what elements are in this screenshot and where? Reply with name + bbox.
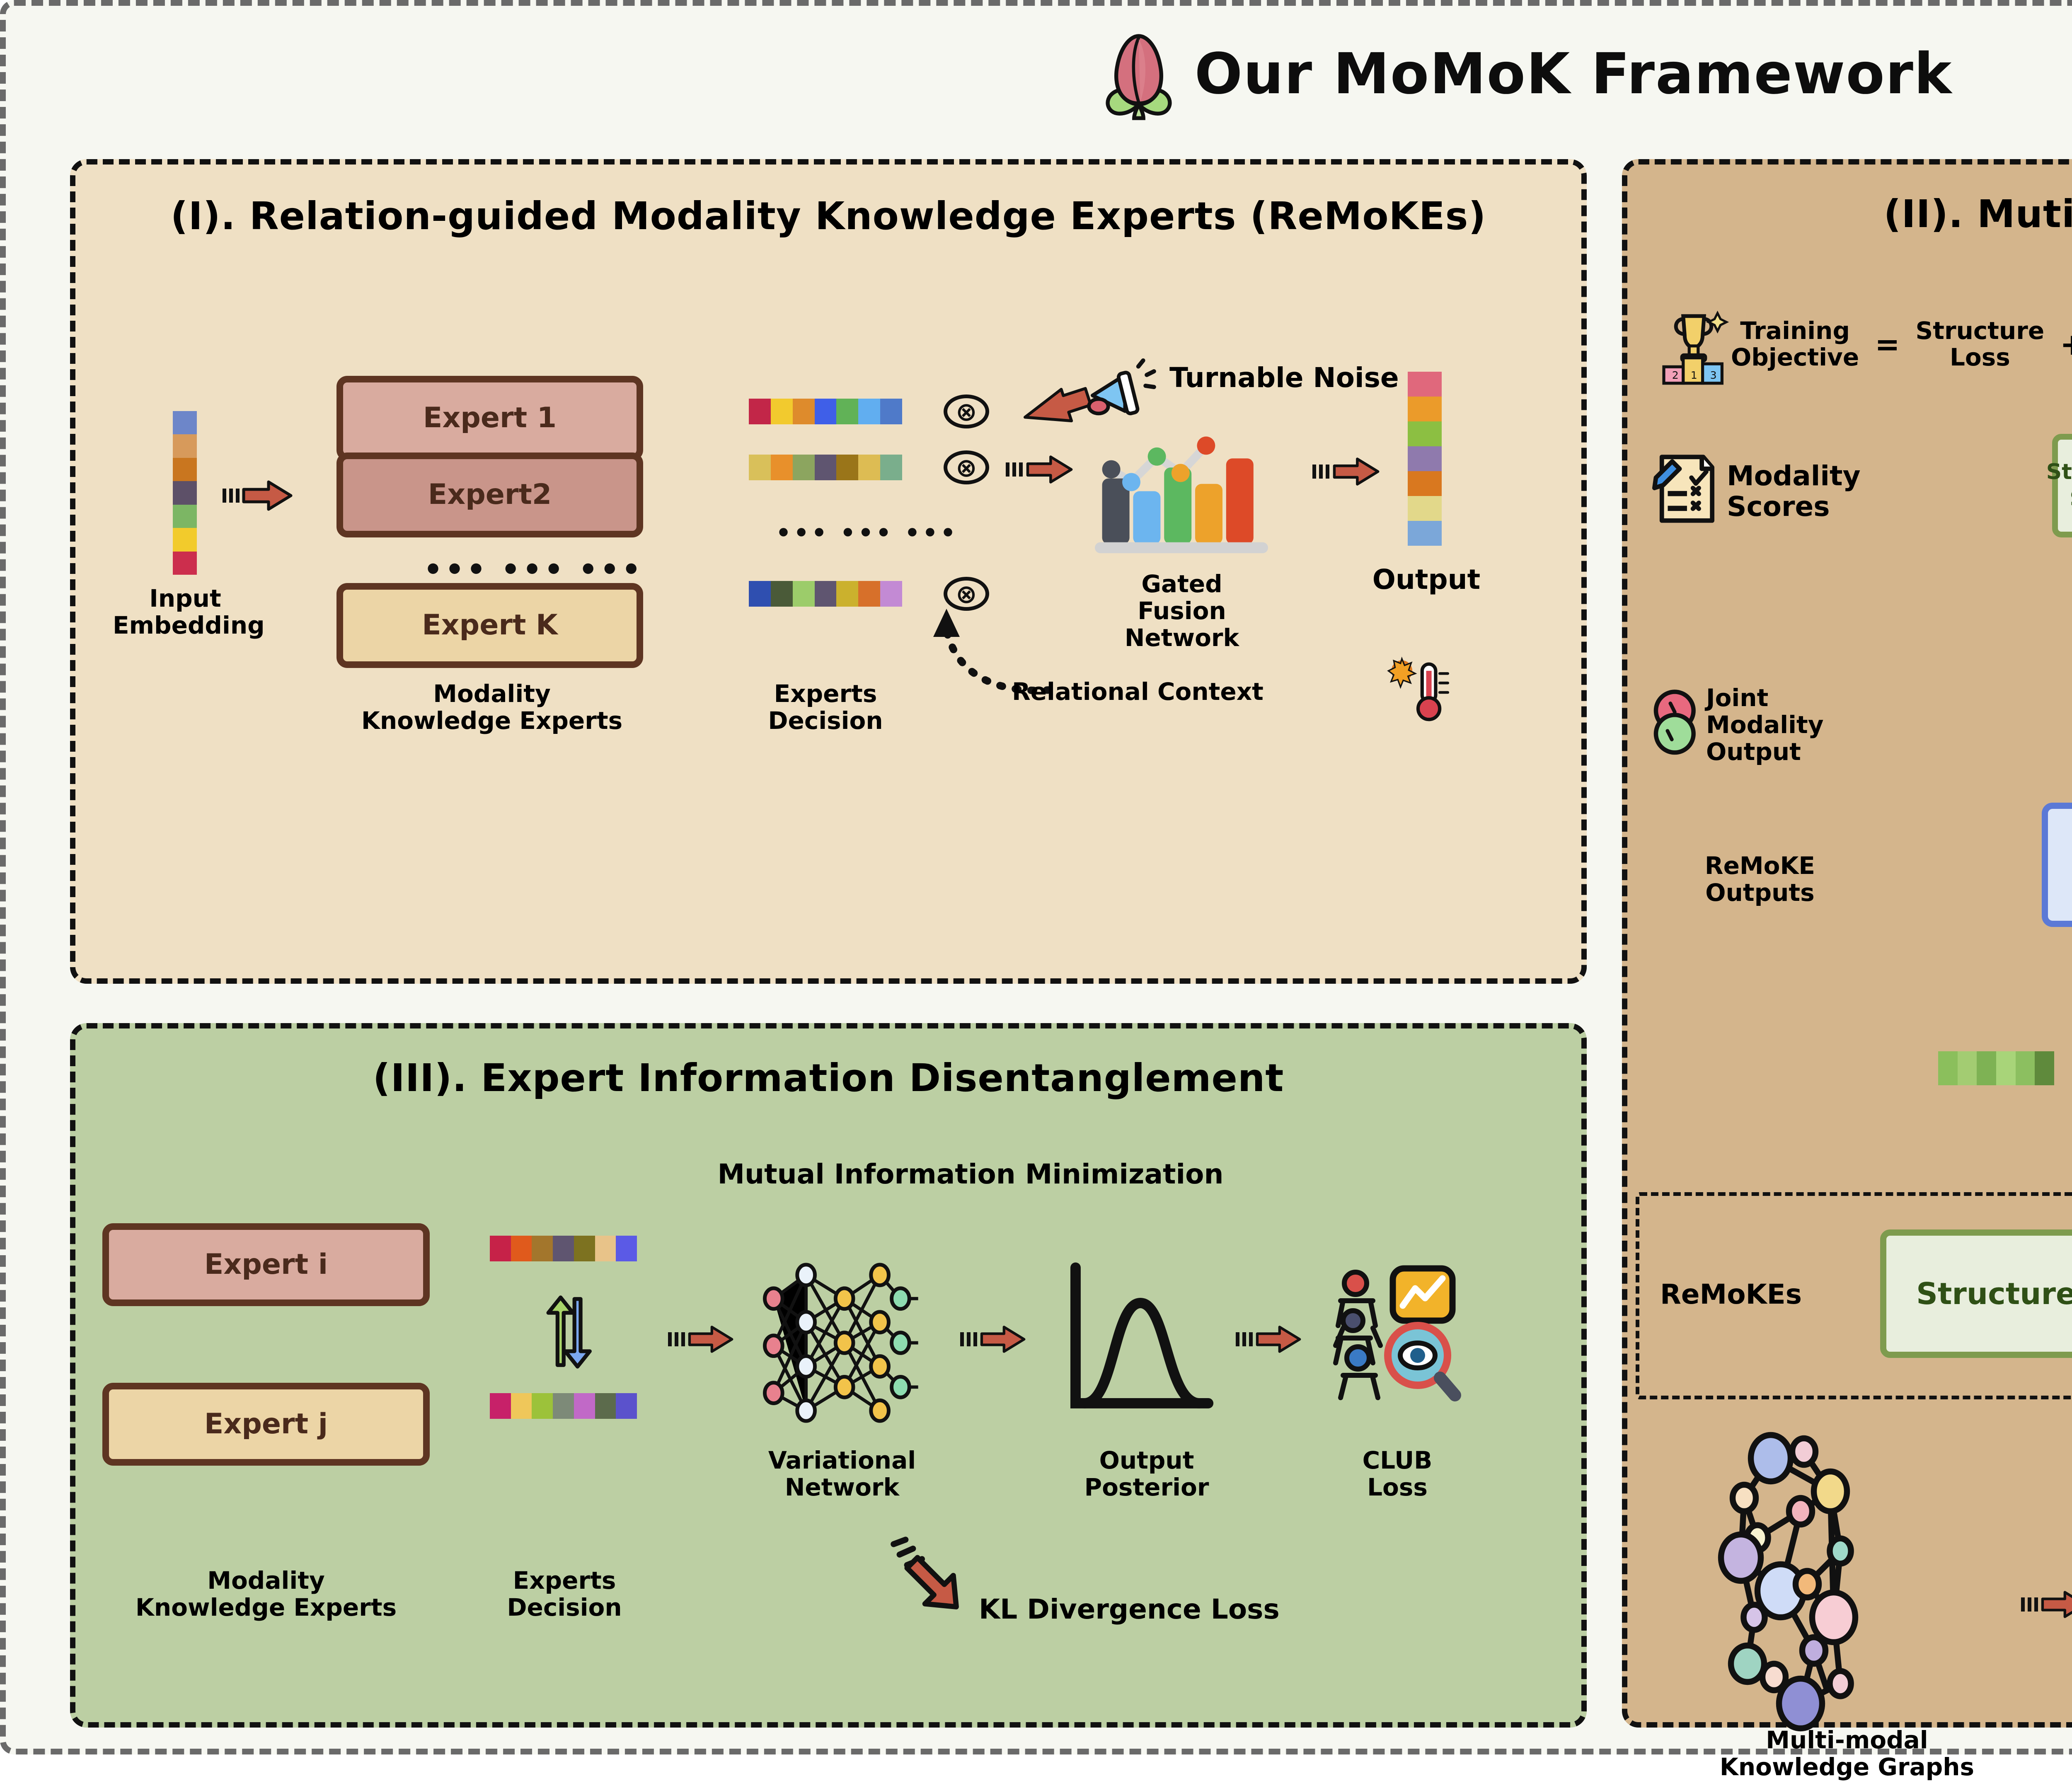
score-card-structure[interactable]: Structure Score bbox=[2052, 434, 2072, 537]
gated-fusion-network-label: Gated Fusion Network bbox=[1087, 571, 1277, 651]
kl-divergence-loss-label: KL Divergence Loss bbox=[979, 1594, 1476, 1625]
expert-box-1[interactable]: Expert 1 bbox=[336, 376, 643, 461]
panel-multimodal-joint-decision: (II). Muti-modal Joint Decision (MuJoD) … bbox=[1622, 159, 2072, 1728]
strip-cell bbox=[595, 1393, 616, 1419]
remoke-card-structure[interactable]: Structure bbox=[1880, 1229, 2072, 1358]
strip-cell bbox=[771, 399, 793, 424]
strip-cell bbox=[2035, 1051, 2054, 1085]
panel2-title: (II). Muti-modal Joint Decision (MuJoD) bbox=[1627, 194, 2072, 235]
strip-cell bbox=[858, 581, 880, 607]
adaptive-fusion-block[interactable]: Adaptive Fusion bbox=[2042, 803, 2072, 927]
input-embedding-strip bbox=[173, 411, 197, 575]
strip-cell bbox=[880, 581, 902, 607]
framework-poster: Our MoMoK Framework (I). Relation-guided… bbox=[0, 0, 2072, 1754]
modality-knowledge-experts-label: Modality Knowledge Experts bbox=[332, 680, 651, 734]
swap-vertical-icon bbox=[544, 1296, 591, 1368]
strip-cell bbox=[616, 1236, 637, 1261]
strip-cell bbox=[1977, 1051, 1996, 1085]
expert-box-j-label: Expert j bbox=[204, 1409, 328, 1440]
arrow-input-to-experts bbox=[223, 479, 293, 512]
strip-cell bbox=[532, 1236, 553, 1261]
turnable-noise-label: Turnable Noise bbox=[1169, 363, 1426, 393]
strip-cell bbox=[1958, 1051, 1977, 1085]
strip-cell bbox=[771, 455, 793, 480]
poster-header: Our MoMoK Framework bbox=[6, 18, 2072, 130]
strip-cell bbox=[553, 1236, 574, 1261]
venn-circles-icon bbox=[1650, 689, 1712, 757]
output-label: Output bbox=[1352, 564, 1501, 595]
experts-decision-label: Experts Decision bbox=[738, 680, 913, 734]
remoke-card-structure-label: Structure bbox=[1916, 1276, 2072, 1311]
strip-cell bbox=[1938, 1051, 1958, 1085]
strip-cell bbox=[836, 455, 858, 480]
strip-cell bbox=[793, 581, 815, 607]
strip-cell bbox=[595, 1236, 616, 1261]
relational-context-label: Relational Context bbox=[1012, 678, 1385, 705]
objective-term-structure: Structure Loss bbox=[1916, 318, 2045, 371]
objective-equals: = bbox=[1875, 327, 1900, 362]
expert-box-j[interactable]: Expert j bbox=[102, 1383, 430, 1466]
peach-icon bbox=[1099, 30, 1178, 119]
strip-cell bbox=[574, 1393, 595, 1419]
strip-cell bbox=[771, 581, 793, 607]
strip-cell bbox=[574, 1236, 595, 1261]
expert-box-2-label: Expert2 bbox=[428, 479, 552, 511]
output-posterior-label: Output Posterior bbox=[1060, 1447, 1234, 1501]
arrow-to-variational-network bbox=[668, 1325, 734, 1354]
strip-cell bbox=[1408, 397, 1442, 421]
strip-cell bbox=[532, 1393, 553, 1419]
arrow-to-output bbox=[1312, 457, 1380, 486]
strip-cell bbox=[173, 411, 197, 434]
strip-cell bbox=[880, 455, 902, 480]
kl-arrow-icon bbox=[888, 1538, 962, 1613]
arrow-kg-to-modalities bbox=[2021, 1590, 2072, 1619]
megaphone-icon bbox=[1087, 359, 1161, 426]
strip-cell bbox=[173, 458, 197, 481]
input-embedding-label: Input Embedding bbox=[113, 585, 258, 639]
strip-cell bbox=[1408, 372, 1442, 397]
arrow-noise-to-multiply bbox=[1020, 390, 1091, 432]
expert-box-i-label: Expert i bbox=[204, 1249, 328, 1280]
training-objective-row: Training Objective = Structure Loss + Vi… bbox=[1731, 318, 2072, 371]
strip-cell bbox=[858, 399, 880, 424]
neural-network-icon bbox=[751, 1254, 929, 1428]
panel3-title: (III). Expert Information Disentanglemen… bbox=[75, 1057, 1581, 1099]
expert-box-i[interactable]: Expert i bbox=[102, 1223, 430, 1306]
strip-cell bbox=[793, 455, 815, 480]
expert-box-1-label: Expert 1 bbox=[423, 403, 557, 434]
objective-plus-1: + bbox=[2060, 327, 2072, 362]
strip-cell bbox=[173, 434, 197, 457]
strip-cell bbox=[173, 552, 197, 575]
strip-cell bbox=[511, 1236, 532, 1261]
arrow-to-output-posterior bbox=[960, 1325, 1026, 1354]
arrow-to-club-loss bbox=[1236, 1325, 1302, 1354]
strip-cell bbox=[616, 1393, 637, 1419]
objective-lhs: Training Objective bbox=[1731, 318, 1859, 371]
strip-cell bbox=[1408, 521, 1442, 546]
svg-text:1: 1 bbox=[1691, 369, 1697, 381]
strip-cell bbox=[749, 399, 771, 424]
strip-cell bbox=[553, 1393, 574, 1419]
trophy-podium-icon: 2 1 3 bbox=[1661, 312, 1727, 386]
remoke-output-bar-structure bbox=[1938, 1051, 2054, 1085]
experts-decision-bar-1 bbox=[749, 399, 902, 424]
remokes-label: ReMoKEs bbox=[1640, 1279, 1822, 1310]
strip-cell bbox=[173, 505, 197, 528]
analytics-people-icon bbox=[1333, 1263, 1457, 1404]
strip-cell bbox=[1996, 1051, 2016, 1085]
strip-cell bbox=[749, 455, 771, 480]
strip-cell bbox=[490, 1236, 511, 1261]
remoke-outputs-label: ReMoKE Outputs bbox=[1644, 852, 1876, 906]
strip-cell bbox=[749, 581, 771, 607]
expert-box-k[interactable]: Expert K bbox=[336, 583, 643, 668]
svg-text:3: 3 bbox=[1710, 369, 1717, 381]
strip-cell bbox=[1408, 471, 1442, 496]
expert-box-2[interactable]: Expert2 bbox=[336, 453, 643, 537]
strip-cell bbox=[490, 1393, 511, 1419]
gaussian-curve-icon bbox=[1066, 1265, 1215, 1418]
bar-chart-icon bbox=[1095, 426, 1277, 562]
mutual-information-minimization-label: Mutual Information Minimization bbox=[647, 1159, 1294, 1190]
modality-scores-label: Modality Scores bbox=[1727, 461, 1905, 522]
strip-cell bbox=[815, 581, 837, 607]
strip-cell bbox=[858, 455, 880, 480]
expert-box-k-label: Expert K bbox=[422, 610, 558, 641]
experts-decision-bar-2 bbox=[749, 455, 902, 480]
panel-relation-guided-modality-knowledge-experts: (I). Relation-guided Modality Knowledge … bbox=[70, 159, 1587, 984]
strip-cell bbox=[1408, 496, 1442, 521]
strip-cell bbox=[511, 1393, 532, 1419]
experts-decision-bar-k bbox=[749, 581, 902, 607]
strip-cell bbox=[1408, 421, 1442, 446]
strip-cell bbox=[836, 399, 858, 424]
strip-cell bbox=[836, 581, 858, 607]
p3-modality-knowledge-experts-label: Modality Knowledge Experts bbox=[92, 1567, 440, 1621]
panel1-title: (I). Relation-guided Modality Knowledge … bbox=[75, 196, 1581, 237]
strip-cell bbox=[815, 399, 837, 424]
strip-cell bbox=[815, 455, 837, 480]
output-strip bbox=[1408, 372, 1442, 546]
multimodal-knowledge-graphs-label: Multi-modal Knowledge Graphs bbox=[1681, 1727, 2013, 1781]
strip-cell bbox=[793, 399, 815, 424]
decision-ellipsis: ••• ••• ••• bbox=[776, 519, 958, 547]
arrow-to-gated-fusion bbox=[1006, 455, 1074, 484]
experts-ellipsis: ••• ••• ••• bbox=[424, 552, 643, 587]
strip-cell bbox=[880, 399, 902, 424]
panel-expert-information-disentanglement: (III). Expert Information Disentanglemen… bbox=[70, 1023, 1587, 1728]
score-card-structure-label: Structure Score bbox=[2046, 459, 2072, 513]
page-title: Our MoMoK Framework bbox=[1195, 41, 1953, 107]
strip-cell bbox=[173, 528, 197, 551]
strip-cell bbox=[2016, 1051, 2035, 1085]
p3-experts-decision-bar-j bbox=[490, 1393, 637, 1419]
graph-network-icon bbox=[1714, 1412, 1980, 1743]
svg-text:2: 2 bbox=[1672, 369, 1679, 381]
strip-cell bbox=[173, 481, 197, 504]
club-loss-label: CLUB Loss bbox=[1331, 1447, 1464, 1501]
multiply-icon-1: ⊗ bbox=[944, 394, 989, 428]
strip-cell bbox=[1408, 446, 1442, 471]
variational-network-label: Variational Network bbox=[749, 1447, 935, 1501]
checklist-pencil-icon bbox=[1654, 453, 1723, 525]
p3-experts-decision-bar-i bbox=[490, 1236, 637, 1261]
multiply-icon-2: ⊗ bbox=[944, 450, 989, 484]
joint-modality-output-label: Joint Modality Output bbox=[1706, 685, 1888, 765]
p3-experts-decision-label: Experts Decision bbox=[482, 1567, 647, 1621]
thermometer-icon bbox=[1387, 656, 1449, 724]
